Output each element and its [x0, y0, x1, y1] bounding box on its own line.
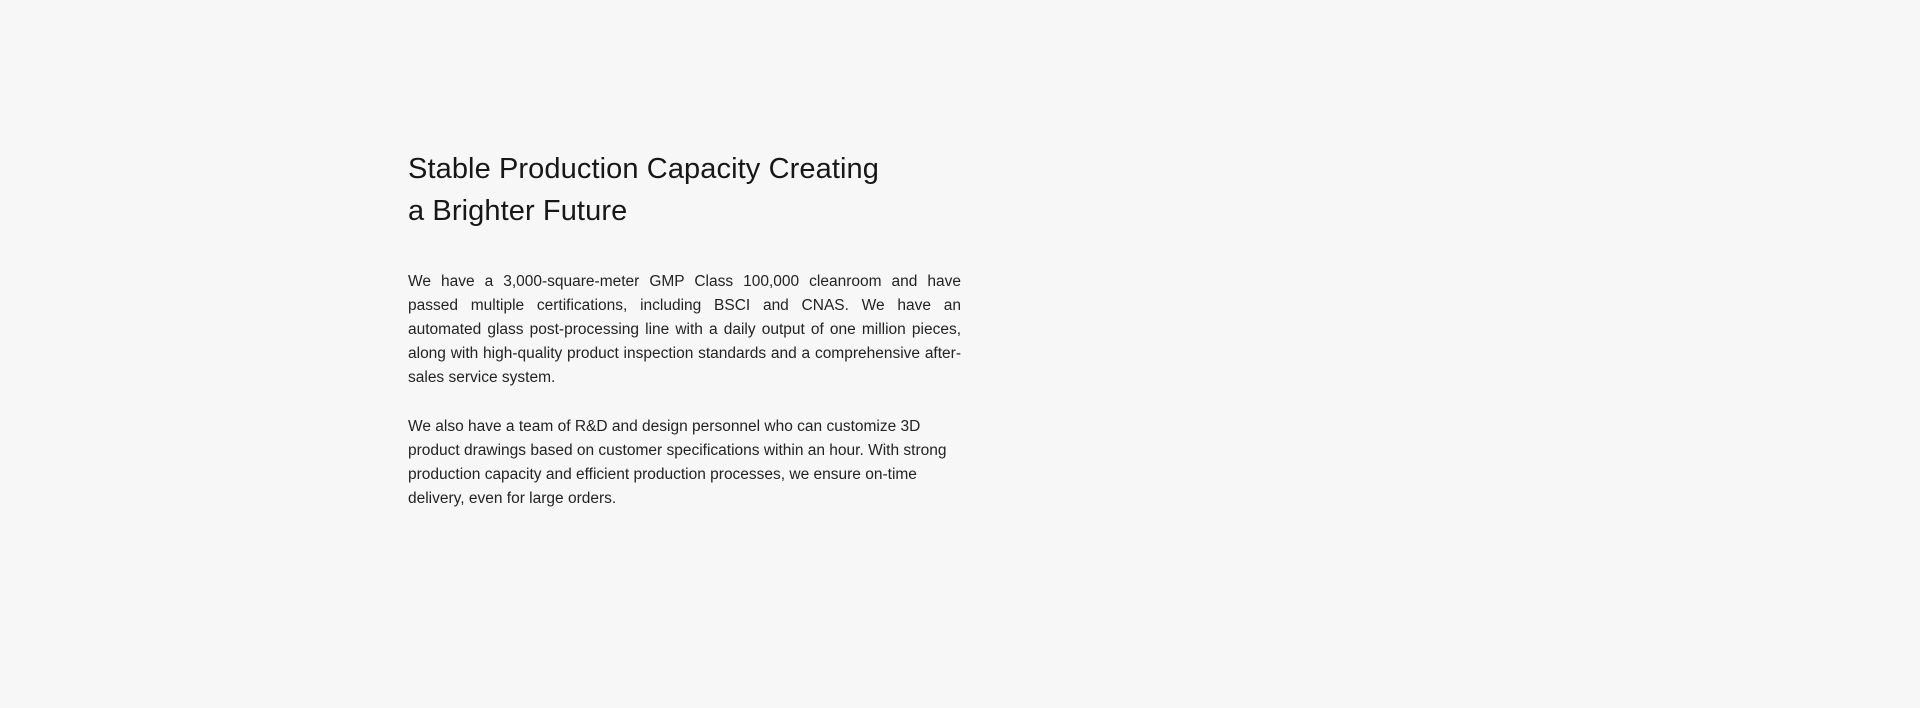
body-paragraph-2: We also have a team of R&D and design pe…	[408, 415, 961, 511]
body-paragraph-1: We have a 3,000-square-meter GMP Class 1…	[408, 270, 961, 390]
page-root: Stable Production Capacity Creating a Br…	[0, 0, 1920, 708]
content-block: Stable Production Capacity Creating a Br…	[408, 148, 961, 511]
page-title: Stable Production Capacity Creating a Br…	[408, 148, 961, 232]
